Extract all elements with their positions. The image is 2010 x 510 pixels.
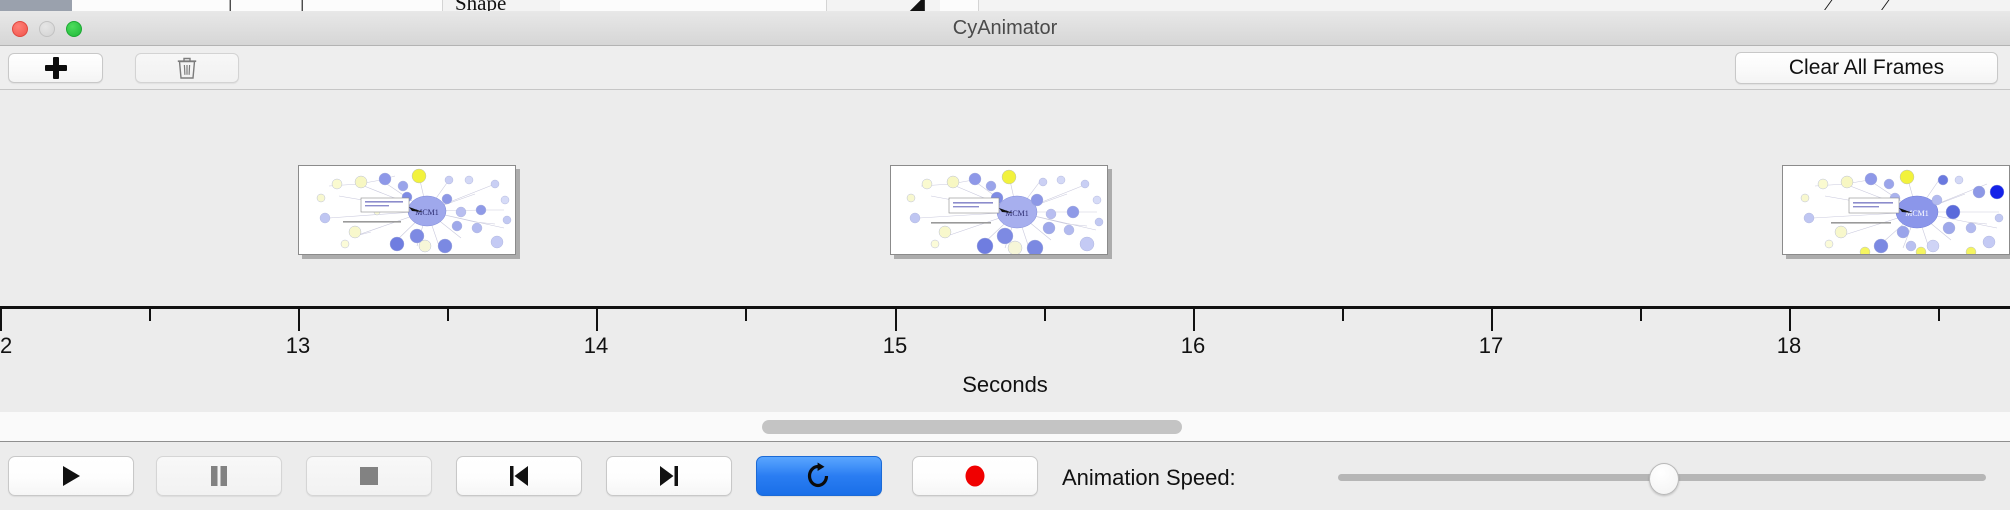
timeline-axis-line xyxy=(0,306,2010,309)
timeline-tick-label: 13 xyxy=(286,333,310,359)
background-tab xyxy=(686,0,827,11)
timeline-tick xyxy=(0,309,2,331)
network-graph-icon: MCM1 xyxy=(299,166,515,254)
pause-button[interactable] xyxy=(156,456,282,496)
timeline-tick-label: 12 xyxy=(0,333,12,359)
skip-back-icon xyxy=(507,463,531,489)
background-tab xyxy=(72,0,151,11)
svg-text:MCM1: MCM1 xyxy=(415,208,439,217)
timeline-tick-label: 14 xyxy=(584,333,608,359)
timeline-tick xyxy=(895,309,897,331)
animation-speed-slider[interactable] xyxy=(1338,474,1986,481)
loop-button[interactable] xyxy=(756,456,882,496)
timeline-tick-label: 17 xyxy=(1479,333,1503,359)
timeline-scrollbar[interactable] xyxy=(0,412,2010,442)
plus-icon xyxy=(45,57,67,79)
background-tab xyxy=(312,0,443,11)
playback-control-bar: Animation Speed: xyxy=(0,443,2010,510)
prev-frame-button[interactable] xyxy=(456,456,582,496)
timeline-tick-label: 15 xyxy=(883,333,907,359)
slider-thumb[interactable] xyxy=(1649,463,1679,495)
timeline-tick xyxy=(1491,309,1493,331)
stop-icon xyxy=(358,465,380,487)
frame-thumbnail-2[interactable]: MCM1 xyxy=(890,165,1108,255)
trash-icon xyxy=(177,57,197,79)
timeline-tick xyxy=(1789,309,1791,331)
cyanimator-window: | | ◢ ∕ ∕ Shape CyAnimator Clear All xyxy=(0,0,2010,510)
background-tab xyxy=(192,0,241,11)
clear-all-frames-label: Clear All Frames xyxy=(1789,56,1944,80)
clear-all-frames-button[interactable]: Clear All Frames xyxy=(1735,52,1998,84)
frame-thumbnail-3[interactable]: MCM1 xyxy=(1782,165,2010,255)
timeline-axis-title: Seconds xyxy=(0,372,2010,398)
next-frame-button[interactable] xyxy=(606,456,732,496)
minimize-button[interactable] xyxy=(39,21,55,37)
play-icon xyxy=(58,463,84,489)
network-graph-icon: MCM1 xyxy=(1783,166,2009,254)
play-button[interactable] xyxy=(8,456,134,496)
background-tab xyxy=(940,0,979,11)
timeline-tick xyxy=(1938,309,1940,321)
close-button[interactable] xyxy=(12,21,28,37)
background-tab xyxy=(560,0,609,11)
traffic-lights xyxy=(12,21,82,37)
frame-network-preview: MCM1 xyxy=(891,166,1107,254)
stop-button[interactable] xyxy=(306,456,432,496)
network-graph-icon: MCM1 xyxy=(891,166,1107,254)
timeline-tick xyxy=(1640,309,1642,321)
timeline-tick-label: 16 xyxy=(1181,333,1205,359)
svg-text:MCM1: MCM1 xyxy=(1905,209,1929,218)
timeline-tick xyxy=(1342,309,1344,321)
record-button[interactable] xyxy=(912,456,1038,496)
timeline-tick xyxy=(1044,309,1046,321)
timeline-tick xyxy=(149,309,151,321)
animation-speed-label: Animation Speed: xyxy=(1062,465,1236,491)
window-title: CyAnimator xyxy=(0,11,2010,46)
background-selected-tab xyxy=(0,0,72,11)
record-icon xyxy=(963,464,987,488)
frame-thumbnail-1[interactable]: MCM1 xyxy=(298,165,516,255)
timeline-tick xyxy=(298,309,300,331)
add-frame-button[interactable] xyxy=(8,53,103,83)
svg-text:MCM1: MCM1 xyxy=(1005,209,1029,218)
timeline-tick-label: 18 xyxy=(1777,333,1801,359)
toolbar: Clear All Frames xyxy=(0,46,2010,90)
loop-icon xyxy=(805,462,833,490)
timeline-panel[interactable]: MCM1 xyxy=(0,90,2010,412)
frame-network-preview: MCM1 xyxy=(299,166,515,254)
timeline-tick xyxy=(596,309,598,331)
pause-icon xyxy=(208,463,230,489)
timeline-tick xyxy=(447,309,449,321)
timeline-scrollbar-thumb[interactable] xyxy=(762,420,1182,434)
skip-forward-icon xyxy=(657,463,681,489)
frame-network-preview: MCM1 xyxy=(1783,166,2009,254)
title-bar: CyAnimator xyxy=(0,11,2010,46)
background-tab xyxy=(150,0,193,11)
timeline-tick xyxy=(1193,309,1195,331)
delete-frame-button[interactable] xyxy=(135,53,239,83)
background-tab xyxy=(608,0,687,11)
timeline-tick xyxy=(745,309,747,321)
zoom-button[interactable] xyxy=(66,21,82,37)
